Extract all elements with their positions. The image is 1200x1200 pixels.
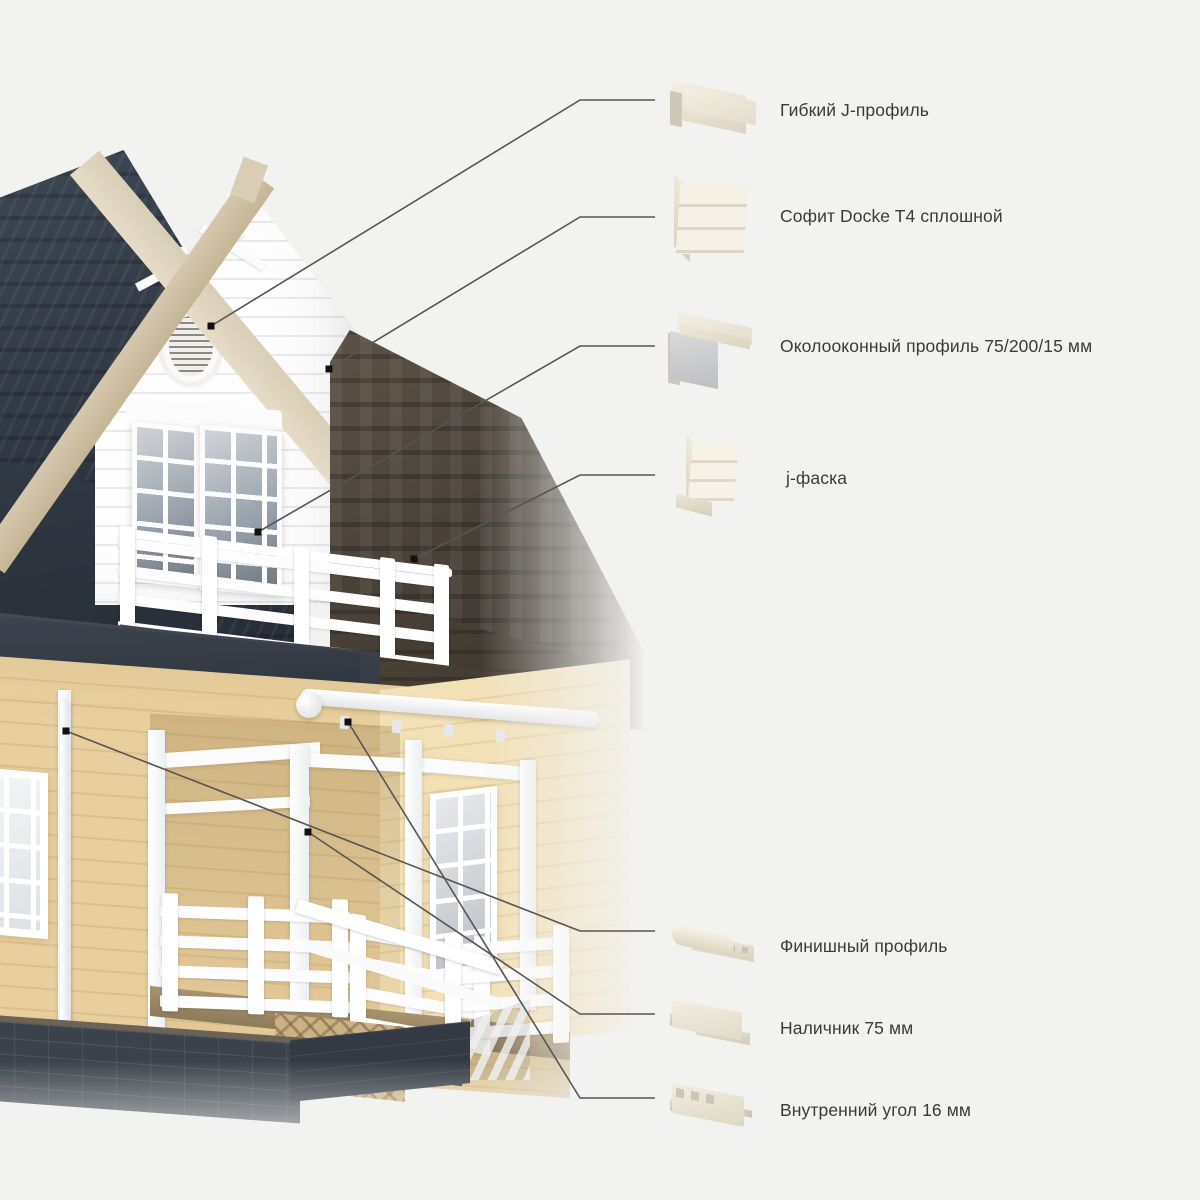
soffit-panel-thumbnail (666, 178, 762, 254)
j-profile-thumbnail (666, 72, 762, 148)
rail-post (162, 893, 178, 1012)
inner-corner-thumbnail (666, 1072, 762, 1148)
callout-label: Внутренний угол 16 мм (780, 1100, 971, 1121)
callout-j-fascia[interactable]: j-фаска (672, 440, 847, 516)
callout-label: Околооконный профиль 75/200/15 мм (780, 336, 1092, 357)
window-trim-thumbnail (666, 308, 762, 384)
diagram-canvas: Гибкий J-профиль Софит Docke T4 сплошной… (0, 0, 1200, 1200)
lower-window (0, 767, 48, 939)
house-render (0, 0, 700, 1200)
porch-railing (160, 905, 350, 1022)
casing-thumbnail (666, 990, 762, 1066)
window-mullions (0, 775, 40, 930)
callout-label: j-фаска (786, 468, 847, 489)
downpipe (60, 700, 71, 1030)
callout-label: Софит Docke T4 сплошной (780, 206, 1003, 227)
callout-inner-corner[interactable]: Внутренний угол 16 мм (666, 1072, 971, 1148)
callout-label: Финишный профиль (780, 936, 947, 957)
gutter-bracket (340, 716, 350, 730)
rail-post (294, 546, 309, 656)
rail-post (202, 535, 217, 645)
rail-post (248, 896, 264, 1015)
profile-end-cap (670, 91, 682, 128)
callout-window-profile[interactable]: Околооконный профиль 75/200/15 мм (666, 308, 1092, 384)
callout-casing-75[interactable]: Наличник 75 мм (666, 990, 913, 1066)
rail-post (380, 557, 395, 667)
gutter-outlet (296, 692, 322, 718)
gutter-bracket (444, 724, 454, 738)
render-fade-bottom (0, 1060, 700, 1200)
panel-face (676, 184, 749, 254)
rail-post (434, 564, 449, 674)
callout-j-profile[interactable]: Гибкий J-профиль (666, 72, 929, 148)
gutter-bracket (392, 720, 402, 734)
callout-soffit-t4[interactable]: Софит Docke T4 сплошной (666, 178, 1003, 254)
callout-finish-profile[interactable]: Финишный профиль (666, 908, 947, 984)
j-fascia-thumbnail (672, 440, 768, 516)
finish-profile-thumbnail (666, 908, 762, 984)
callout-label: Гибкий J-профиль (780, 100, 929, 121)
panel-face (687, 444, 738, 506)
callout-label: Наличник 75 мм (780, 1018, 913, 1039)
rail-post (120, 525, 135, 635)
